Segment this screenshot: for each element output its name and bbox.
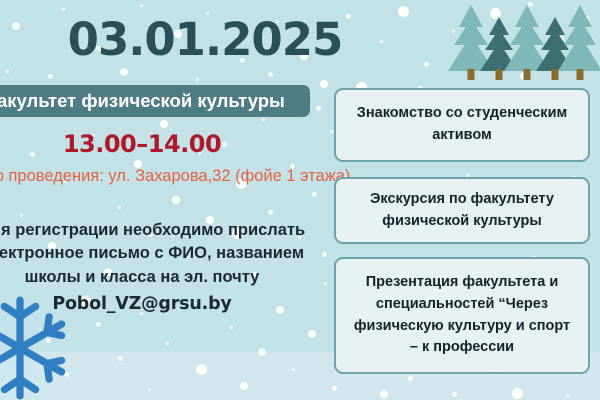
tree-trunk bbox=[496, 69, 503, 80]
program-card[interactable]: Презентация факультета и специальностей … bbox=[334, 257, 590, 374]
pine-tree-icon bbox=[558, 0, 600, 80]
tree-trunk bbox=[468, 69, 475, 80]
registration-instructions: Для регистрации необходимо прислать элек… bbox=[0, 219, 328, 289]
registration-line: Для регистрации необходимо прислать bbox=[0, 219, 328, 242]
registration-line: школы и класса на эл. почту bbox=[0, 266, 328, 289]
snowflake-icon bbox=[0, 296, 72, 400]
faculty-name-badge: Факультет физической культуры bbox=[0, 85, 310, 117]
tree-trunk bbox=[524, 69, 531, 80]
program-cards-list: Знакомство со студенческим активом Экску… bbox=[334, 88, 590, 374]
program-card[interactable]: Экскурсия по факультету физической культ… bbox=[334, 177, 590, 244]
poster-canvas: 03.01.2025 Факультет физической культуры… bbox=[0, 0, 600, 400]
event-time: 13.00–14.00 bbox=[0, 130, 328, 158]
registration-line: электронное письмо с ФИО, названием bbox=[0, 242, 328, 265]
event-details-column: 13.00–14.00 Место проведения: ул. Захаро… bbox=[0, 130, 328, 314]
pine-tree-shape bbox=[558, 5, 600, 71]
pine-trees-group bbox=[448, 0, 600, 80]
program-card[interactable]: Знакомство со студенческим активом bbox=[334, 88, 590, 162]
event-place: Место проведения: ул. Захарова,32 (фойе … bbox=[0, 167, 328, 186]
event-date: 03.01.2025 bbox=[0, 13, 410, 66]
tree-trunk bbox=[577, 69, 584, 80]
snowflake-shape bbox=[0, 296, 72, 400]
